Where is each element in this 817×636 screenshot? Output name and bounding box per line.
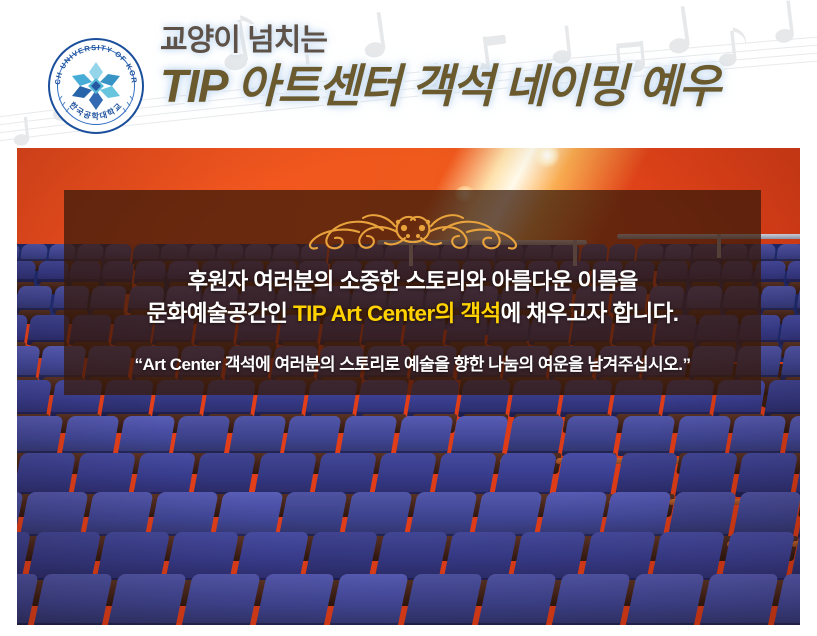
theater-seat [193,453,257,497]
theater-seat [562,416,620,456]
theater-seat [314,453,378,497]
theater-seat [477,574,556,625]
theater-seat [228,416,286,456]
theater-seat [173,416,231,456]
theater-seat [255,574,334,625]
theater-seat [17,286,53,313]
theater-seat [555,453,619,497]
theater-seat [133,453,197,497]
theater-seat [617,416,675,456]
theater-seat [759,286,797,313]
overlay-message-line-2: 문화예술공간인 TIP Art Center의 객석에 채우고자 합니다. [64,298,761,330]
logo-snowflake-icon [70,60,122,112]
theater-seat [729,416,787,456]
theater-seat [395,416,453,456]
theater-seat [254,453,318,497]
theater-seat [117,416,175,456]
theater-seat [673,416,731,456]
overlay-quote-text: “Art Center 객석에 여러분의 스토리로 예술을 향한 나눔의 여운을… [64,350,761,375]
banner-header: TECH UNIVERSITY OF KOREA 한국공학대학교 [0,0,817,148]
message-overlay-panel: 후원자 여러분의 소중한 스토리와 아름다운 이름을 문화예술공간인 TIP A… [64,190,761,395]
theater-seat [329,574,408,625]
theater-seat [615,453,679,497]
theater-seat [339,416,397,456]
tech-university-of-korea-logo: TECH UNIVERSITY OF KOREA 한국공학대학교 [48,38,144,134]
overlay-message-highlight: TIP Art Center의 객석 [293,301,501,326]
theater-seat [17,380,52,417]
theater-seat [181,574,260,625]
theater-seat [284,416,342,456]
theater-seat [551,574,630,625]
overlay-message-line-2-post: 에 채우고자 합니다. [501,301,679,326]
theater-seat [675,453,739,497]
overlay-message-line-2-pre: 문화예술공간인 [147,301,293,326]
theater-seat [434,453,498,497]
promotional-banner-page: TECH UNIVERSITY OF KOREA 한국공학대학교 [0,0,817,636]
decorative-flourish-ornament [263,202,563,252]
theater-seat [735,453,799,497]
theater-seat [494,453,558,497]
theater-seat [779,315,800,345]
overlay-message-block: 후원자 여러분의 소중한 스토리와 아름다운 이름을 문화예술공간인 TIP A… [64,266,761,330]
theater-seat [764,380,800,417]
theater-seat [451,416,509,456]
header-main-title: TIP 아트센터 객석 네이밍 예우 [160,62,720,110]
theater-seat [699,574,778,625]
theater-seat [33,574,112,625]
overlay-message-line-1: 후원자 여러분의 소중한 스토리와 아름다운 이름을 [64,266,761,298]
theater-seat [17,453,76,497]
theater-seat [506,416,564,456]
theater-seat [374,453,438,497]
theater-seat [73,453,137,497]
header-title-group: 교양이 넘치는 TIP 아트센터 객석 네이밍 예우 [160,26,720,110]
theater-seat [17,416,64,456]
theater-seat [625,574,704,625]
theater-seat [61,416,119,456]
theater-seat [403,574,482,625]
theater-seat [107,574,186,625]
header-subtitle: 교양이 넘치는 [160,26,720,56]
